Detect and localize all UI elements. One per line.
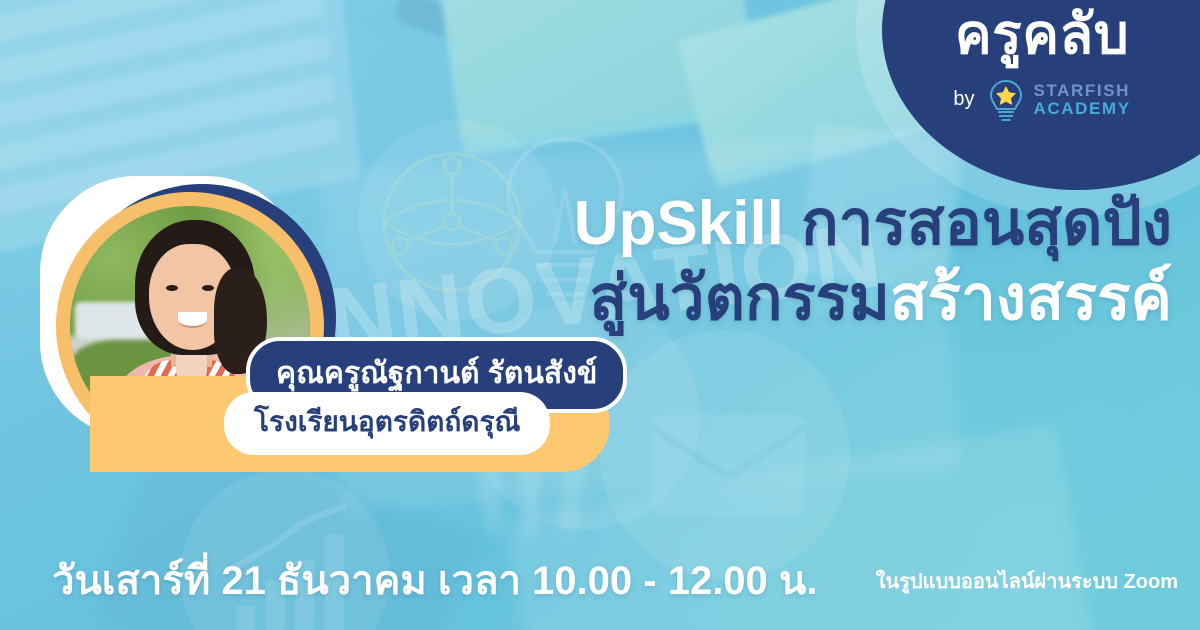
envelope-icon — [608, 338, 848, 578]
promo-banner: INNOVATION ครูคลับ by STARFISH ACADEMY U… — [0, 0, 1200, 630]
headline-line2-thai-navy: สู่นวัตกรรม — [590, 264, 890, 333]
lightbulb-star-icon — [986, 78, 1026, 122]
headline-line-1: UpSkill การสอนสุดปัง — [452, 192, 1172, 255]
starfish-academy-text: STARFISH ACADEMY — [1033, 82, 1130, 117]
event-date-time: วันเสาร์ที่ 21 ธันวาคม เวลา 10.00 - 12.0… — [52, 548, 817, 612]
headline: UpSkill การสอนสุดปัง สู่นวัตกรรมสร้างสรร… — [452, 192, 1172, 330]
starfish-academy-logo: STARFISH ACADEMY — [986, 78, 1130, 122]
starfish-word: STARFISH — [1033, 82, 1130, 99]
headline-upskill: UpSkill — [574, 189, 784, 258]
event-platform: ในรูปแบบออนไลน์ผ่านระบบ Zoom — [876, 565, 1178, 597]
brand-title: ครูคลับ — [912, 6, 1172, 64]
speaker-school-pill: โรงเรียนอุตรดิตถ์ดรุณี — [224, 392, 550, 455]
brand-lockup: ครูคลับ by STARFISH ACADEMY — [912, 6, 1172, 122]
headline-line-2: สู่นวัตกรรมสร้างสรรค์ — [452, 267, 1172, 330]
headline-line2-thai-white: สร้างสรรค์ — [890, 264, 1172, 333]
brand-by-label: by — [953, 88, 974, 111]
academy-word: ACADEMY — [1033, 100, 1130, 117]
headline-line1-thai: การสอนสุดปัง — [801, 189, 1172, 258]
brand-by-row: by STARFISH ACADEMY — [912, 78, 1172, 122]
